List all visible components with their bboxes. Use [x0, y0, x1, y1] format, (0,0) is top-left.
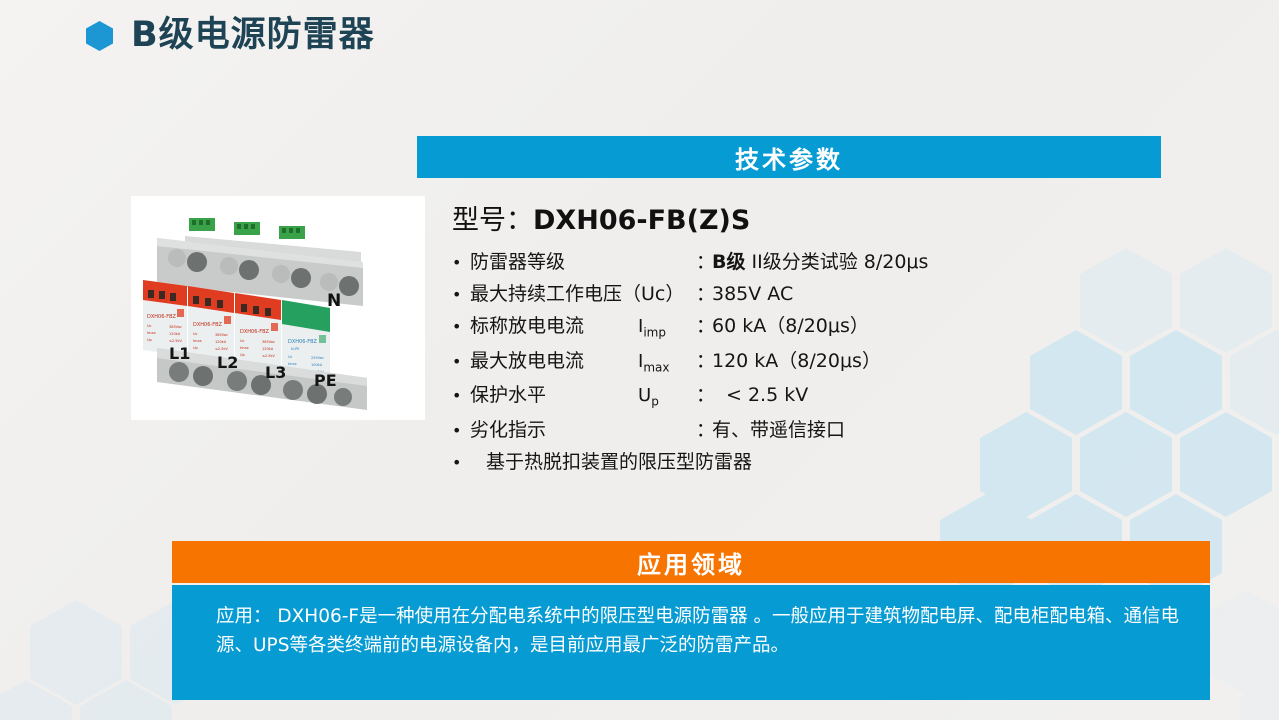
svg-text:Uc: Uc: [193, 332, 198, 336]
spec-name: 保护水平: [470, 386, 638, 405]
spec-name: 最大持续工作电压（Uc）: [470, 285, 696, 304]
spec-value-rest: II级分类试验 8/20μs: [745, 251, 928, 273]
bullet-icon: •: [452, 354, 470, 370]
spec-symbol: Up: [638, 387, 696, 408]
model-label: 型号：: [452, 205, 533, 236]
tech-params-header-bar: 技术参数: [417, 136, 1161, 178]
spec-row: • 防雷器等级 ： B级 II级分类试验 8/20μs: [452, 253, 972, 272]
svg-text:Imax: Imax: [288, 362, 297, 366]
svg-text:Imax: Imax: [193, 339, 202, 343]
spec-name: 标称放电电流: [470, 317, 638, 336]
svg-text:DXH06-FBZ: DXH06-FBZ: [240, 329, 270, 335]
bullet-icon: •: [452, 455, 470, 471]
spec-name: 最大放电电流: [470, 352, 638, 371]
svg-text:385Vac: 385Vac: [169, 325, 182, 329]
tech-params-header-title: 技术参数: [735, 140, 843, 175]
hexagon-icon: [86, 21, 113, 51]
svg-text:Imax: Imax: [240, 346, 249, 350]
spec-name: 劣化指示: [470, 421, 638, 440]
product-label-l2: L2: [217, 353, 238, 372]
symbol-base: U: [638, 385, 651, 406]
svg-text:N-PE: N-PE: [291, 347, 300, 351]
spec-colon: ：: [696, 253, 712, 272]
bullet-icon: •: [452, 255, 470, 271]
spec-colon: ：: [696, 421, 712, 440]
product-label-l3: L3: [265, 363, 286, 382]
svg-text:≤2.5kV: ≤2.5kV: [215, 347, 229, 351]
symbol-subscript: imp: [643, 326, 666, 340]
page-title-row: B级电源防雷器: [86, 18, 375, 53]
bullet-icon: •: [452, 287, 470, 303]
spec-row: • 劣化指示 ： 有、带遥信接口: [452, 421, 972, 440]
spec-value: B级 II级分类试验 8/20μs: [712, 253, 972, 272]
svg-text:Imax: Imax: [147, 331, 156, 335]
tech-params-panel: 型号：DXH06-FB(Z)S • 防雷器等级 ： B级 II级分类试验 8/2…: [452, 198, 972, 485]
spec-row: • 最大放电电流 Imax ： 120 kA（8/20μs）: [452, 352, 972, 374]
svg-text:DXH06-FBZ: DXH06-FBZ: [193, 322, 223, 328]
svg-text:≤2.5kV: ≤2.5kV: [262, 354, 276, 358]
spec-colon: ：: [696, 285, 712, 304]
page-title: B级电源防雷器: [131, 18, 375, 53]
svg-text:Up: Up: [240, 353, 246, 357]
spec-colon: ：: [696, 317, 712, 336]
spec-value: 有、带遥信接口: [712, 421, 972, 440]
svg-text:120kA: 120kA: [169, 332, 181, 336]
product-image: N DXH06-FBZ Uc385Vac Imax120kA Up≤2.5kV: [131, 196, 425, 420]
symbol-subscript: p: [651, 395, 659, 409]
model-line: 型号：DXH06-FB(Z)S: [452, 198, 972, 237]
svg-text:DXH06-FBZ: DXH06-FBZ: [147, 314, 177, 320]
svg-text:Uc: Uc: [240, 339, 245, 343]
svg-text:120kA: 120kA: [262, 347, 274, 351]
svg-text:Uc: Uc: [288, 355, 293, 359]
svg-text:Uc: Uc: [147, 324, 152, 328]
spec-name: 防雷器等级: [470, 253, 638, 272]
svg-text:≤2.5kV: ≤2.5kV: [169, 339, 183, 343]
svg-text:255Vac: 255Vac: [311, 356, 324, 360]
application-header-title: 应用领域: [637, 545, 745, 580]
spec-symbol: Imax: [638, 353, 696, 374]
application-body-text: 应用： DXH06-F是一种使用在分配电系统中的限压型电源防雷器 。一般应用于建…: [216, 603, 1196, 660]
svg-text:120kA: 120kA: [215, 340, 227, 344]
bullet-icon: •: [452, 423, 470, 439]
product-label-l1: L1: [169, 344, 190, 363]
svg-text:100kA: 100kA: [311, 363, 323, 367]
spec-value-bold: B级: [712, 251, 745, 273]
spec-value: < 2.5 kV: [712, 386, 972, 405]
product-label-pe: PE: [314, 371, 337, 390]
bullet-icon: •: [452, 388, 470, 404]
symbol-subscript: max: [643, 360, 669, 374]
svg-text:DXH06-FBZ: DXH06-FBZ: [288, 339, 318, 345]
spec-colon: ：: [696, 386, 712, 405]
spec-colon: ：: [696, 352, 712, 371]
spec-row: • 标称放电电流 Iimp ： 60 kA（8/20μs）: [452, 317, 972, 339]
svg-text:385Vac: 385Vac: [215, 333, 228, 337]
spec-value: 120 kA（8/20μs）: [712, 352, 972, 371]
model-value: DXH06-FB(Z)S: [533, 205, 750, 236]
application-body-box: 应用： DXH06-F是一种使用在分配电系统中的限压型电源防雷器 。一般应用于建…: [172, 585, 1210, 700]
spec-value: 60 kA（8/20μs）: [712, 317, 972, 336]
spec-row: • 保护水平 Up ： < 2.5 kV: [452, 386, 972, 408]
svg-text:385Vac: 385Vac: [262, 340, 275, 344]
spec-row: • 最大持续工作电压（Uc） ： 385V AC: [452, 285, 972, 304]
bullet-icon: •: [452, 319, 470, 335]
spec-symbol: Iimp: [638, 318, 696, 339]
application-header-bar: 应用领域: [172, 541, 1210, 583]
svg-text:Up: Up: [147, 338, 153, 342]
spec-note-text: 基于热脱扣装置的限压型防雷器: [470, 453, 752, 472]
slide-canvas: B级电源防雷器 技术参数: [0, 0, 1279, 720]
spec-value: 385V AC: [712, 285, 972, 304]
spec-note-row: • 基于热脱扣装置的限压型防雷器: [452, 453, 972, 472]
svg-text:Up: Up: [193, 346, 199, 350]
